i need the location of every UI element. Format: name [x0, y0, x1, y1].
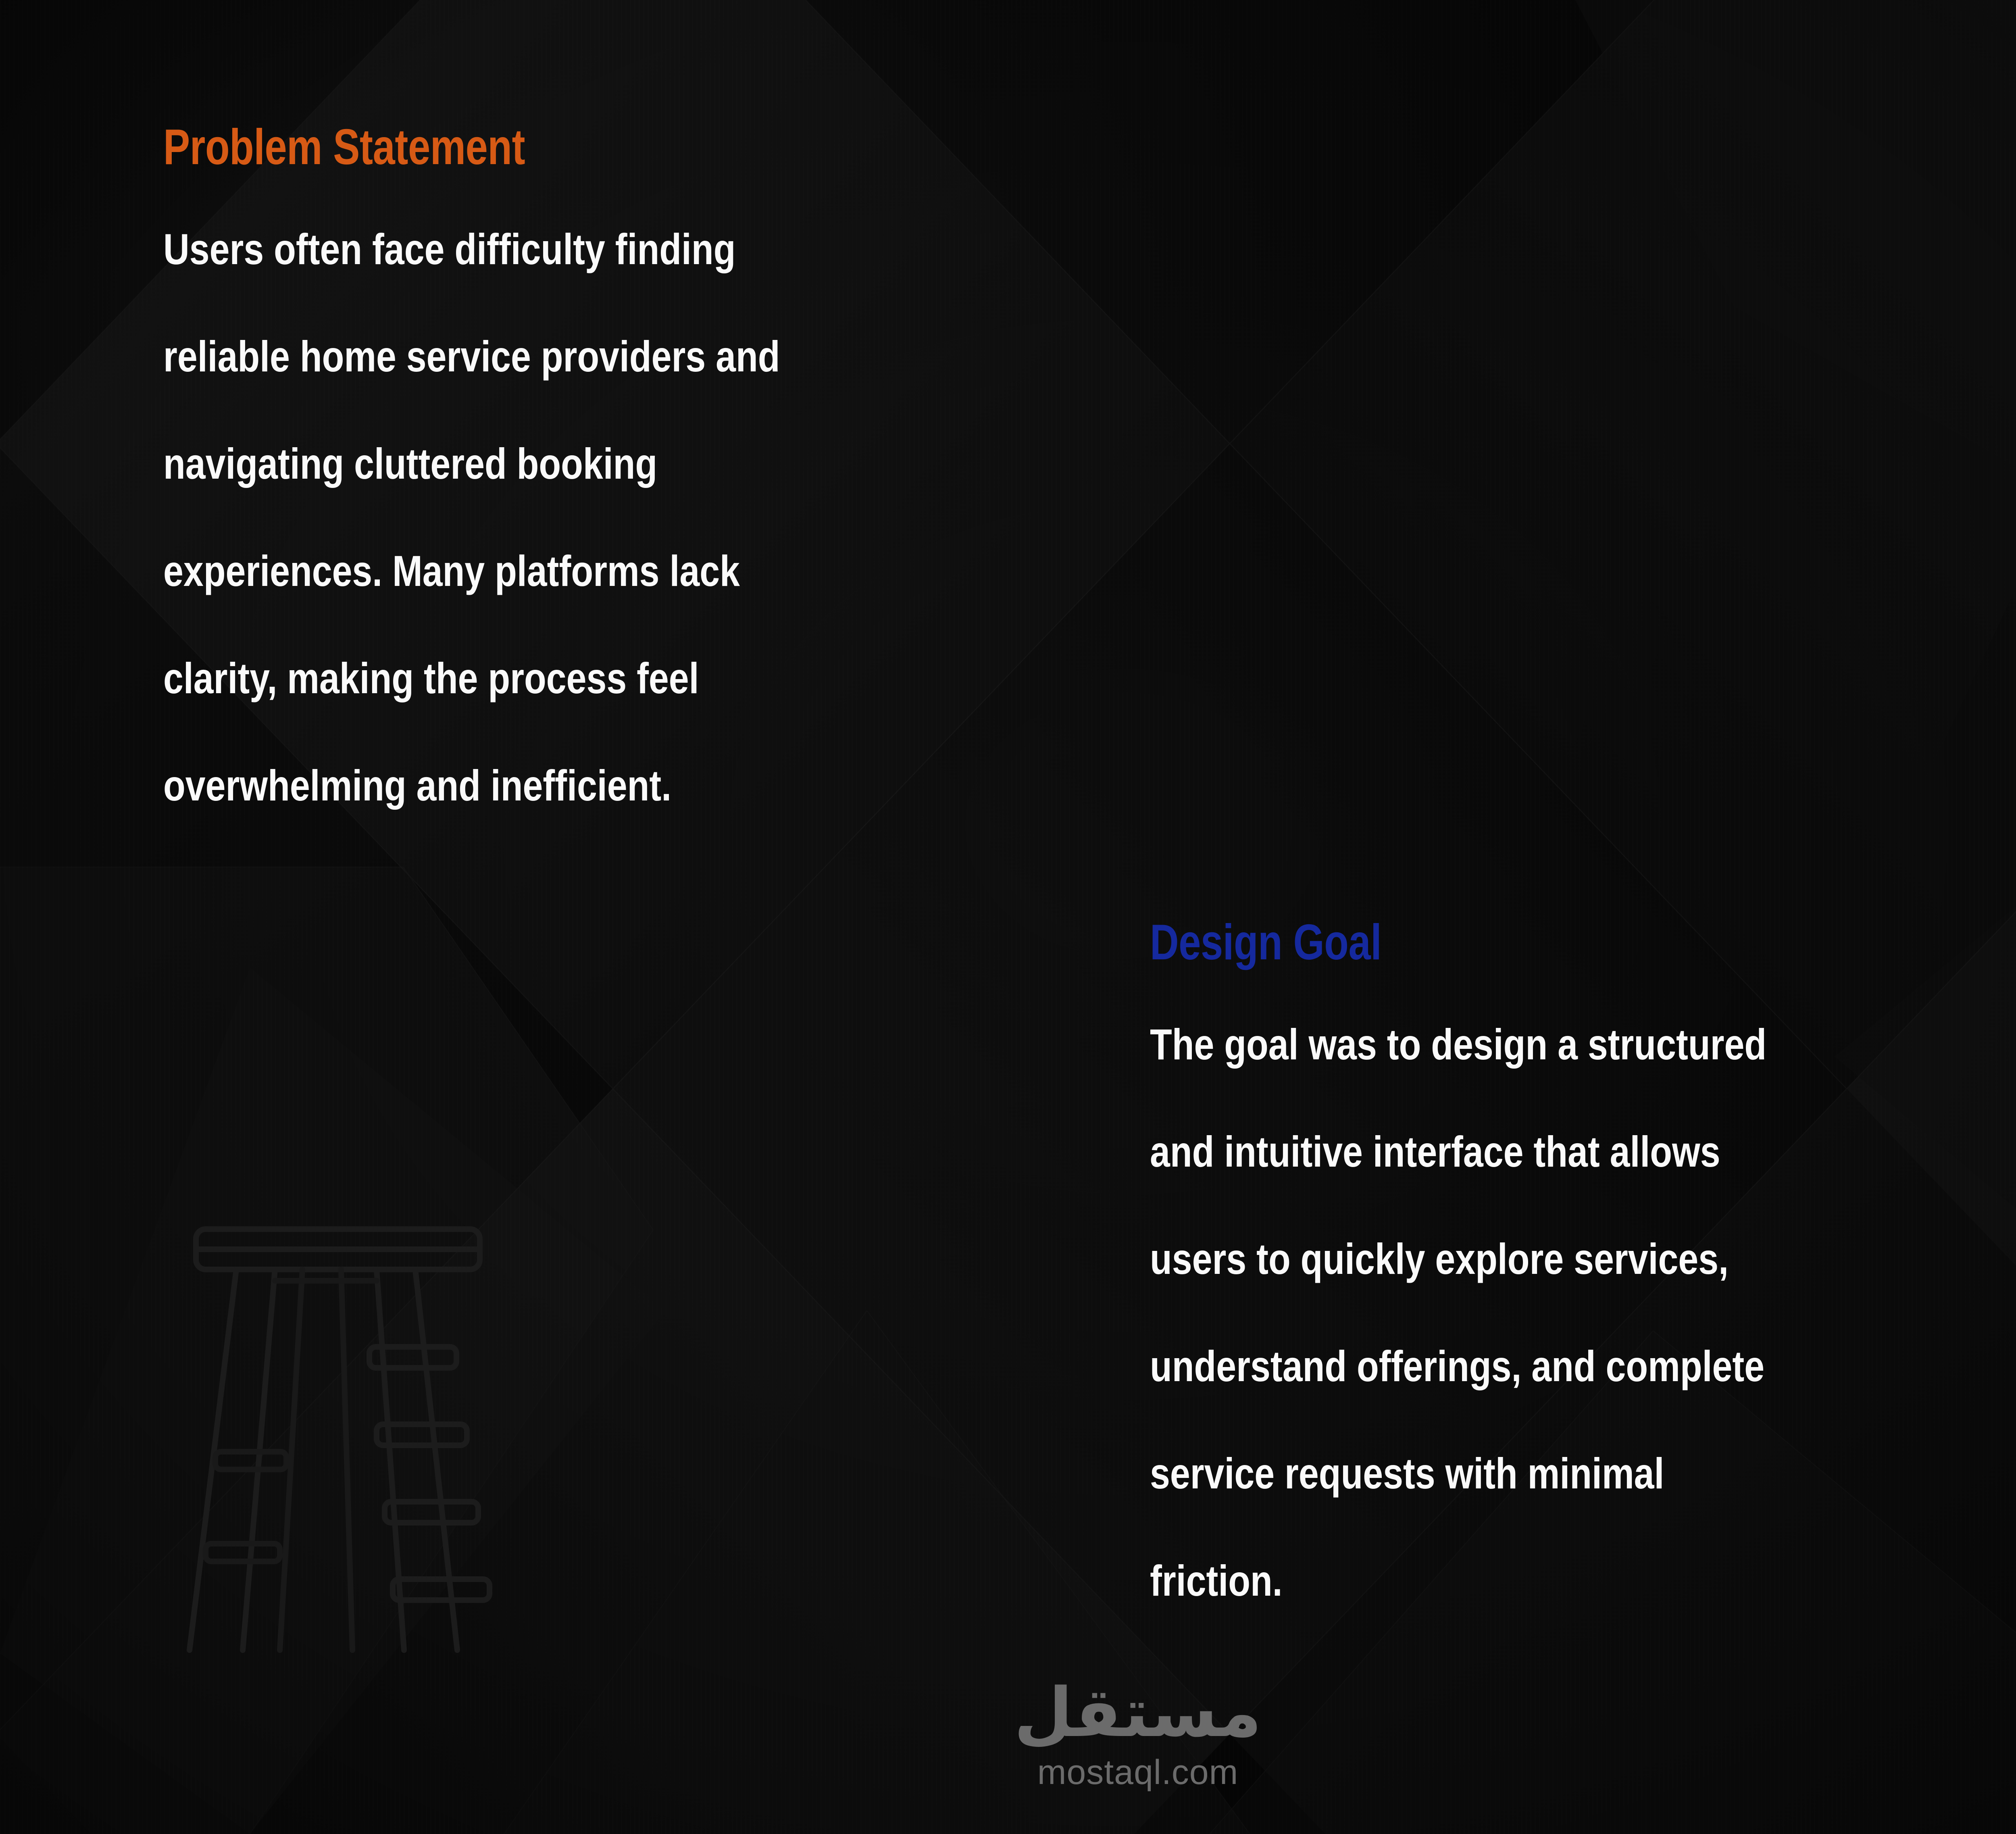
- slide-canvas: Problem Statement Users often face diffi…: [0, 0, 2016, 1834]
- mostaql-watermark: مستقل mostaql.com: [997, 1674, 1279, 1807]
- goal-line: and intuitive interface that allows: [1150, 1098, 2016, 1205]
- goal-line: understand offerings, and complete: [1150, 1313, 2016, 1420]
- mostaql-domain-text: mostaql.com: [997, 1753, 1279, 1792]
- problem-statement-heading: Problem Statement: [163, 121, 970, 174]
- problem-line: clarity, making the process feel: [163, 625, 1167, 732]
- goal-line: service requests with minimal: [1150, 1420, 2016, 1527]
- problem-line: reliable home service providers and: [163, 303, 1167, 410]
- mostaql-arabic-wordmark: مستقل: [997, 1674, 1279, 1751]
- design-goal-heading: Design Goal: [1150, 916, 1976, 969]
- problem-line: navigating cluttered booking: [163, 410, 1167, 517]
- problem-line: experiences. Many platforms lack: [163, 517, 1167, 625]
- problem-statement-body: Users often face difficulty finding reli…: [163, 196, 1167, 839]
- goal-line: friction.: [1150, 1527, 2016, 1634]
- problem-statement-section: Problem Statement Users often face diffi…: [163, 121, 1171, 839]
- problem-line: overwhelming and inefficient.: [163, 732, 1167, 839]
- goal-line: users to quickly explore services,: [1150, 1205, 2016, 1313]
- goal-line: The goal was to design a structured: [1150, 991, 2016, 1098]
- design-goal-section: Design Goal The goal was to design a str…: [1150, 916, 2016, 1634]
- design-goal-body: The goal was to design a structured and …: [1150, 991, 2016, 1634]
- step-ladder-icon: [173, 1218, 520, 1669]
- problem-line: Users often face difficulty finding: [163, 196, 1167, 303]
